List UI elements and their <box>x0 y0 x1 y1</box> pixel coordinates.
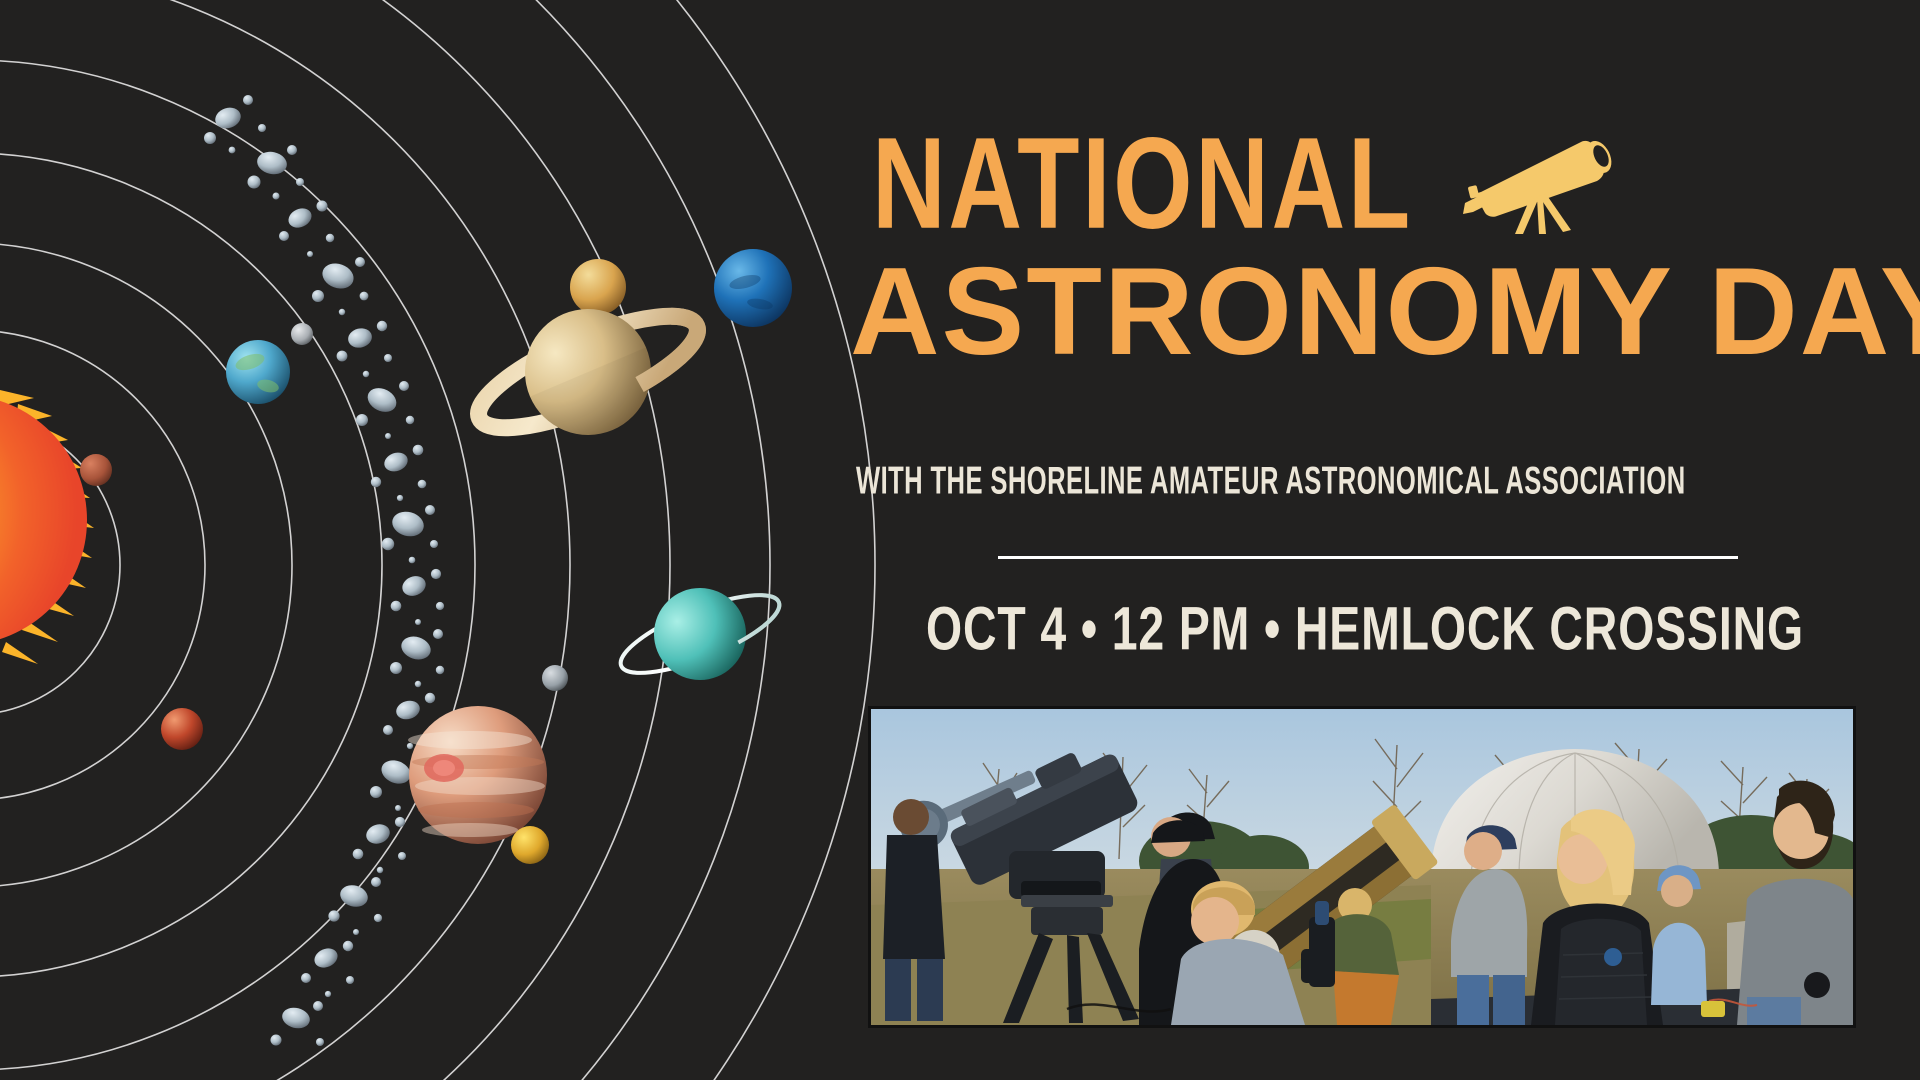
headline-line-1-row: NATIONAL <box>850 130 1870 237</box>
event-photo <box>868 706 1856 1028</box>
planet-pluto <box>542 665 568 691</box>
divider-rule <box>998 556 1738 559</box>
person-child-blue-hat <box>1651 865 1707 1005</box>
organization-subtitle: WITH THE SHORELINE AMATEUR ASTRONOMICAL … <box>856 458 1691 503</box>
planet-earth <box>226 340 290 404</box>
headline-line-2-row: ASTRONOMY DAY <box>850 255 1870 369</box>
telescope-icon <box>1453 130 1623 236</box>
astronomy-day-poster: NATIONAL <box>0 0 1920 1080</box>
asteroid-belt <box>204 95 444 1046</box>
planet-mars <box>161 708 203 750</box>
event-details-line: OCT 4 • 12 PM • HEMLOCK CROSSING <box>922 594 1808 665</box>
headline-block: NATIONAL <box>850 130 1870 369</box>
planet-venus <box>570 259 626 315</box>
moon-io <box>511 826 549 864</box>
headline-line-2: ASTRONOMY DAY <box>850 243 1920 381</box>
moon <box>291 323 313 345</box>
planet-sun <box>0 390 94 664</box>
planet-jupiter <box>408 706 547 844</box>
planet-mercury <box>80 454 112 486</box>
planet-neptune <box>714 249 792 327</box>
orbit-rings <box>0 0 875 1080</box>
headline-line-1: NATIONAL <box>872 124 1413 244</box>
